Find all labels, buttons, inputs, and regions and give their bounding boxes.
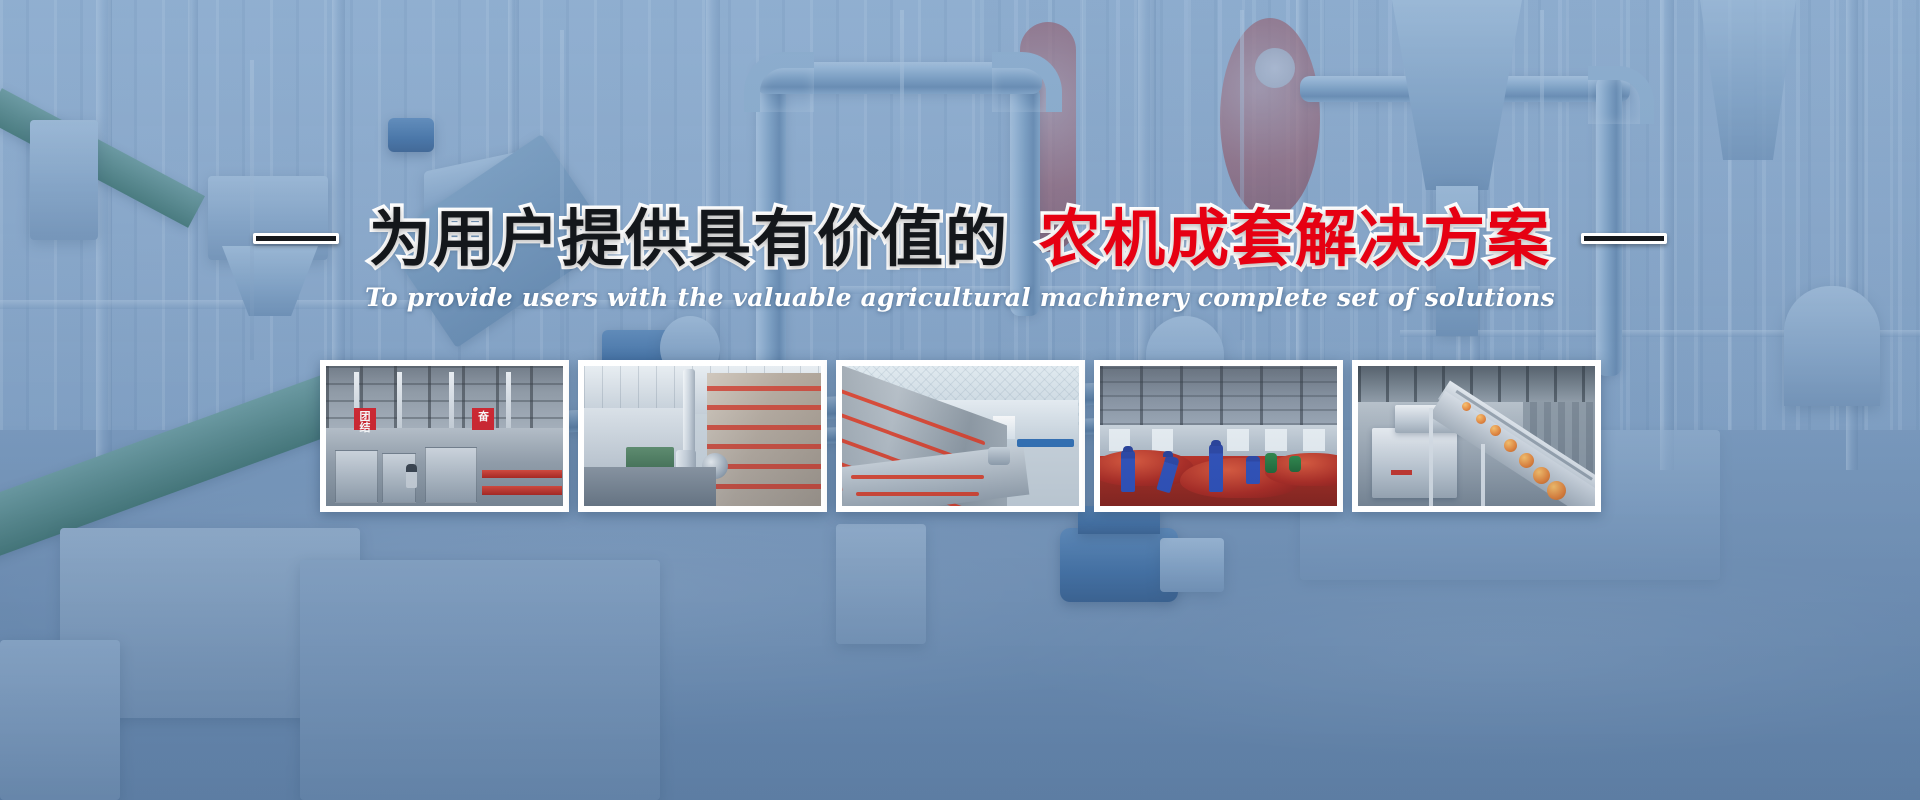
headline-accent: 农机成套解决方案 xyxy=(1039,206,1551,272)
thumbnail-factory-hall-banners[interactable]: 团结 奋 xyxy=(320,360,569,512)
dash-right-icon xyxy=(1581,233,1667,244)
thumbnail-workers-chili-piles[interactable] xyxy=(1094,360,1343,512)
thumbnail-strip: 团结 奋 xyxy=(0,360,1920,512)
thumbnail-inclined-conveyor-produce[interactable] xyxy=(1352,360,1601,512)
dash-left-icon xyxy=(253,233,339,244)
hero-banner: 为用户提供具有价值的 农机成套解决方案 To provide users wit… xyxy=(0,0,1920,800)
headline-subtitle: To provide users with the valuable agric… xyxy=(0,283,1920,312)
headline-row: 为用户提供具有价值的 农机成套解决方案 xyxy=(0,206,1920,272)
headline-primary: 为用户提供具有价值的 xyxy=(369,206,1009,272)
thumbnail-drying-racks-conveyor[interactable] xyxy=(578,360,827,512)
thumbnail-chili-conveyor-lines[interactable] xyxy=(836,360,1085,512)
